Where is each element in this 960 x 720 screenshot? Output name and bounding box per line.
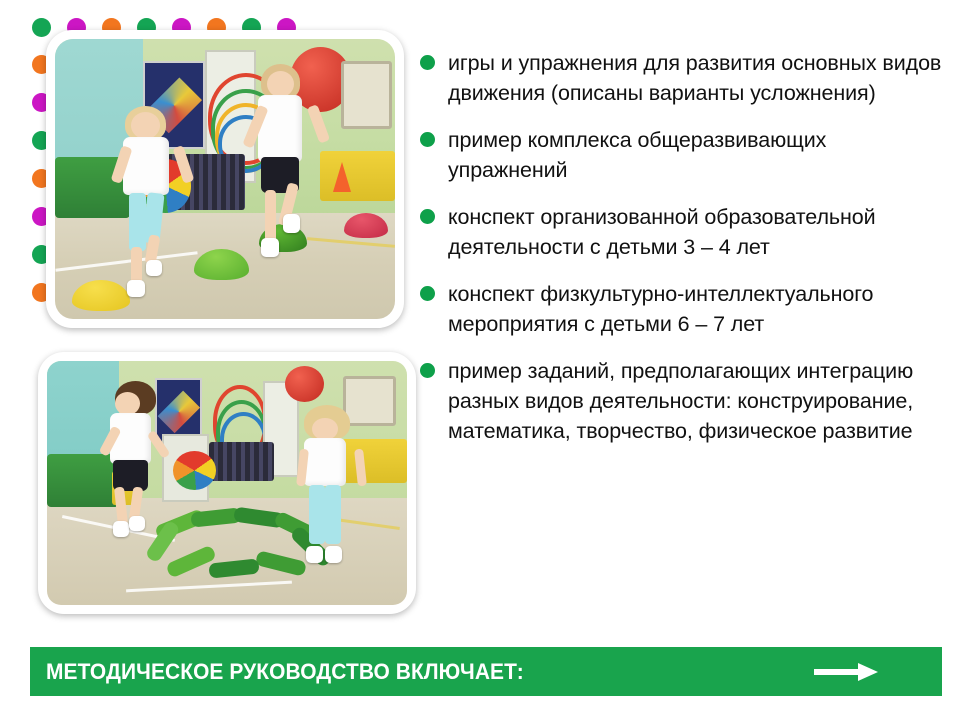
list-item: конспект физкультурно-интеллектуального … — [420, 279, 948, 339]
banner-title: МЕТОДИЧЕСКОЕ РУКОВОДСТВО ВКЛЮЧАЕТ: — [46, 659, 524, 685]
list-item-label: конспект организованной образовательной … — [448, 202, 948, 262]
feature-bullet-list: игры и упражнения для развития основных … — [420, 48, 948, 463]
bullet-dot-icon — [420, 55, 435, 70]
list-item-label: игры и упражнения для развития основных … — [448, 48, 948, 108]
list-item-label: пример заданий, предполагающих интеграци… — [448, 356, 948, 446]
photo-children-jumping-ring — [47, 361, 407, 605]
list-item: пример комплекса общеразвивающих упражне… — [420, 125, 948, 185]
list-item-label: пример комплекса общеразвивающих упражне… — [448, 125, 948, 185]
decorative-dot — [32, 18, 51, 37]
bullet-dot-icon — [420, 209, 435, 224]
list-item-label: конспект физкультурно-интеллектуального … — [448, 279, 948, 339]
bullet-dot-icon — [420, 132, 435, 147]
bullet-dot-icon — [420, 286, 435, 301]
gym-scene-bottom — [47, 361, 407, 605]
bottom-banner: МЕТОДИЧЕСКОЕ РУКОВОДСТВО ВКЛЮЧАЕТ: — [30, 647, 942, 696]
arrow-right-icon[interactable] — [814, 661, 880, 683]
photo-children-running-gym — [55, 39, 395, 319]
bullet-dot-icon — [420, 363, 435, 378]
slide-root: игры и упражнения для развития основных … — [0, 0, 960, 720]
photo-card-children-ring — [38, 352, 416, 614]
list-item: пример заданий, предполагающих интеграци… — [420, 356, 948, 446]
gym-scene-top — [55, 39, 395, 319]
photo-card-children-running — [46, 30, 404, 328]
list-item: конспект организованной образовательной … — [420, 202, 948, 262]
list-item: игры и упражнения для развития основных … — [420, 48, 948, 108]
